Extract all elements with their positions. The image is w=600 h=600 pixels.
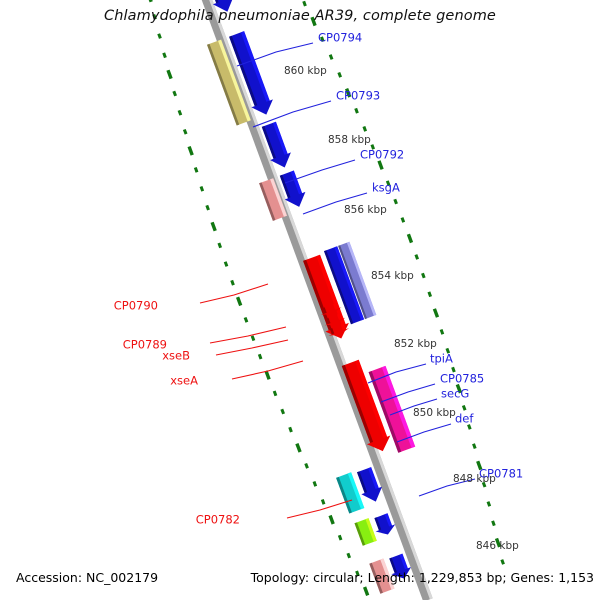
genome-map-viewer: Chlamydophila pneumoniae AR39, complete … [0, 0, 600, 600]
gene-label-cp0792[interactable]: CP0792 [360, 148, 404, 162]
leader-line-cp0790 [200, 284, 268, 303]
tick-dash [219, 243, 221, 248]
tick-dash [245, 318, 247, 323]
scale-label-846kbp: 846 kbp [476, 540, 519, 552]
gene-label-xseb[interactable]: xseB [162, 349, 190, 363]
scale-label-852kbp: 852 kbp [394, 338, 437, 350]
tick-dash [408, 234, 411, 242]
tick-dash [238, 297, 241, 305]
tick-dash [304, 1, 306, 6]
tick-dash [259, 354, 261, 359]
genome-map-canvas[interactable]: 860 kbp858 kbp856 kbp854 kbp852 kbp850 k… [0, 0, 600, 600]
tick-dash [348, 553, 350, 558]
leader-line-cp0789 [210, 327, 286, 343]
tick-dash [339, 535, 341, 540]
tick-dash [179, 110, 181, 115]
gene-label-ksga[interactable]: ksgA [372, 181, 400, 195]
tick-dash [282, 409, 284, 414]
tick-dash [441, 330, 443, 335]
tick-dash [330, 516, 333, 525]
topology-text: Topology: circular; Length: 1,229,853 bp… [251, 570, 594, 585]
tick-dash [290, 427, 292, 432]
tick-dash [174, 91, 176, 96]
tick-dash [322, 500, 324, 505]
tick-dash [225, 262, 227, 267]
gene-label-cp0782[interactable]: CP0782 [196, 513, 240, 527]
tick-dash [232, 280, 234, 285]
tick-dash [164, 53, 166, 58]
gene-label-cp0793[interactable]: CP0793 [336, 89, 380, 103]
tick-dash [148, 0, 151, 2]
tick-dash [379, 161, 382, 170]
tick-dash [252, 336, 254, 341]
scale-label-850kbp: 850 kbp [413, 407, 456, 419]
tick-dash [312, 17, 315, 25]
tick-dash [201, 187, 203, 192]
leader-line-cp0792 [285, 160, 355, 183]
tick-dash [474, 444, 476, 449]
tick-dash [356, 108, 358, 113]
accession-text: Accession: NC_002179 [16, 570, 158, 585]
tick-dash [434, 309, 437, 317]
leader-line-cp0782 [287, 500, 352, 518]
scale-label-858kbp: 858 kbp [328, 134, 371, 146]
tick-dash [395, 199, 397, 204]
gene-label-cp0794[interactable]: CP0794 [318, 31, 362, 45]
tick-dash [306, 464, 308, 469]
tick-dash [314, 482, 316, 487]
tick-dash [184, 130, 186, 135]
tick-dash [463, 406, 465, 411]
gene-label-def[interactable]: def [455, 412, 474, 426]
tick-dash [274, 391, 276, 396]
scale-label-860kbp: 860 kbp [284, 65, 327, 77]
tick-dash [207, 205, 209, 210]
gene-label-tpia[interactable]: tpiA [430, 352, 453, 366]
tick-dash [488, 502, 490, 507]
scale-label-854kbp: 854 kbp [371, 270, 414, 282]
tick-dash [402, 218, 404, 223]
tick-dash [159, 34, 161, 39]
tick-dash [429, 292, 431, 297]
tick-dash [423, 273, 425, 278]
tick-dash [297, 444, 300, 452]
tick-dash [189, 147, 192, 156]
gene-label-cp0785[interactable]: CP0785 [440, 372, 484, 386]
scale-label-856kbp: 856 kbp [344, 204, 387, 216]
gene-feature[interactable] [355, 518, 377, 546]
tick-dash [212, 222, 215, 231]
tick-dash [330, 55, 332, 60]
gene-label-cp0781[interactable]: CP0781 [479, 467, 523, 481]
tick-dash [168, 70, 171, 78]
leader-line-xseb [216, 340, 288, 355]
tick-dash [493, 521, 495, 526]
tick-dash [154, 15, 156, 20]
gene-label-xsea[interactable]: xseA [170, 374, 198, 388]
tick-dash [266, 371, 269, 380]
tick-dash [416, 255, 418, 260]
gene-label-cp0789[interactable]: CP0789 [123, 338, 167, 352]
tick-dash [195, 168, 197, 173]
status-bar: Accession: NC_002179 Topology: circular;… [0, 560, 600, 600]
gene-label-cp0790[interactable]: CP0790 [114, 299, 158, 313]
tick-dash [364, 127, 366, 132]
gene-label-secg[interactable]: secG [441, 387, 469, 401]
tick-dash [339, 73, 341, 78]
